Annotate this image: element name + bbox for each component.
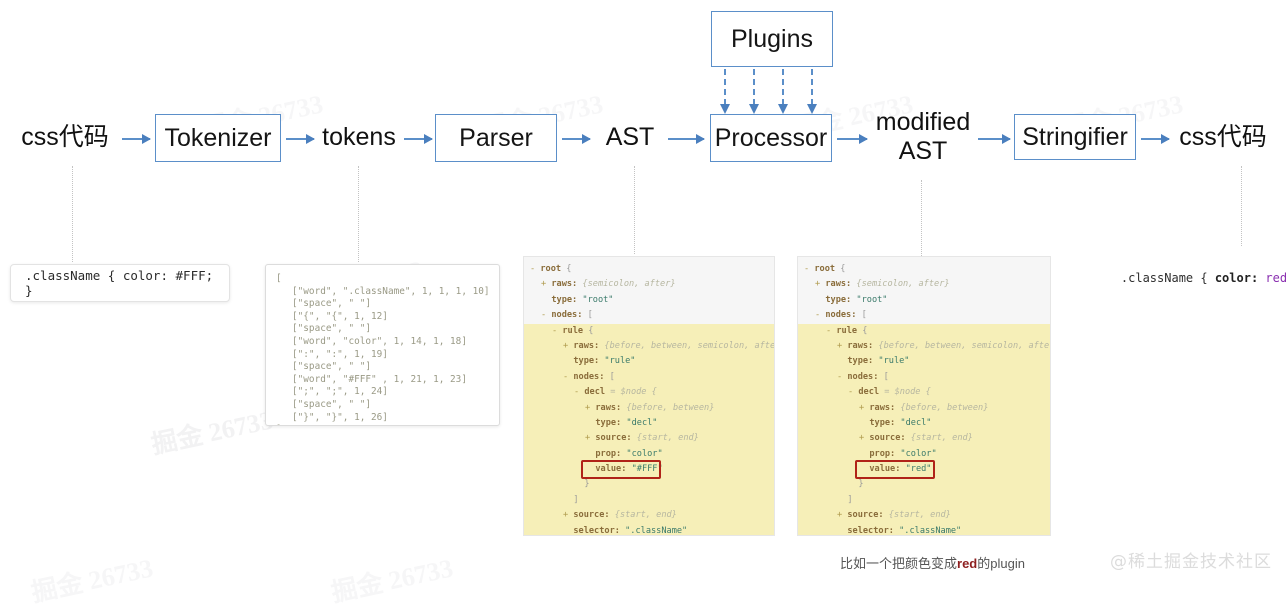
ast-key: raws:: [847, 341, 873, 351]
row-indent-spacer: [574, 479, 584, 489]
ast-value: {start, end}: [911, 433, 973, 443]
ast-key: nodes:: [551, 310, 582, 320]
ast-value: {start, end}: [889, 510, 951, 520]
ast-key: type:: [869, 418, 895, 428]
ast-row[interactable]: + source: {start, end}: [798, 431, 1050, 446]
row-indent-spacer: [837, 526, 847, 536]
tokens-card: [ ["word", ".className", 1, 1, 1, 10]["s…: [265, 264, 500, 426]
flow-node-processor[interactable]: Processor: [710, 114, 832, 162]
ast-value: [: [588, 310, 593, 320]
ast-key: type:: [847, 356, 873, 366]
arrow-css-to-tokenizer: [122, 138, 150, 140]
arrow-parser-to-ast: [562, 138, 590, 140]
flow-node-stringifier[interactable]: Stringifier: [1014, 114, 1136, 160]
ast-value: "root": [582, 295, 613, 305]
ast-value: {: [862, 326, 867, 336]
ast-value: {before, between}: [900, 403, 988, 413]
ast-key: source:: [595, 433, 631, 443]
ast-value: "color": [626, 449, 662, 459]
collapse-toggle-icon[interactable]: -: [530, 264, 540, 274]
ast-key: raws:: [825, 279, 851, 289]
ast-value: "color": [900, 449, 936, 459]
ast-row[interactable]: ]: [798, 493, 1050, 508]
ast-row[interactable]: }: [798, 477, 1050, 492]
ast-row[interactable]: type: "decl": [524, 416, 774, 431]
tokens-open-bracket: [: [276, 273, 489, 286]
token-line: [";", ";", 1, 24]: [276, 386, 489, 399]
token-line: ["word", "#FFF" , 1, 21, 1, 23]: [276, 374, 489, 387]
flow-node-label: AST: [606, 123, 655, 153]
plugin-arrow: [753, 69, 755, 105]
input-css-card: .className { color: #FFF; }: [10, 264, 230, 302]
token-line: ["space", " "]: [276, 399, 489, 412]
ast-row[interactable]: - nodes: [: [798, 308, 1050, 323]
collapse-toggle-icon[interactable]: -: [804, 264, 814, 274]
ast-key: selector:: [847, 526, 894, 536]
ast-row[interactable]: - decl = $node {: [524, 385, 774, 400]
ast-key: type:: [825, 295, 851, 305]
ast-panel-after[interactable]: - root {+ raws: {semicolon, after} type:…: [797, 256, 1051, 536]
ast-value: [: [610, 372, 615, 382]
row-indent-spacer: [837, 495, 847, 505]
row-indent-spacer: [541, 295, 551, 305]
ast-key: nodes:: [825, 310, 856, 320]
drop-connector-modified-ast: [921, 180, 922, 256]
ast-key: raws:: [869, 403, 895, 413]
ast-tree-after: - root {+ raws: {semicolon, after} type:…: [798, 262, 1050, 536]
ast-key: source:: [573, 510, 609, 520]
ast-value: [: [862, 310, 867, 320]
ast-key: prop:: [595, 449, 621, 459]
ast-key: source:: [847, 510, 883, 520]
flow-node-label: css代码: [1179, 123, 1267, 153]
ast-key: value:: [869, 464, 900, 474]
watermark-tile: 掘金 26733: [28, 548, 157, 609]
row-indent-spacer: [585, 464, 595, 474]
expand-toggle-icon[interactable]: +: [815, 279, 825, 289]
collapse-toggle-icon[interactable]: -: [574, 387, 584, 397]
ast-row[interactable]: type: "rule": [524, 354, 774, 369]
expand-toggle-icon[interactable]: +: [837, 341, 847, 351]
row-indent-spacer: [563, 526, 573, 536]
ast-value: "decl": [626, 418, 657, 428]
arrow-processor-to-modified-ast: [837, 138, 867, 140]
arrow-ast-to-processor: [668, 138, 704, 140]
ast-value: {start, end}: [615, 510, 677, 520]
collapse-toggle-icon[interactable]: -: [541, 310, 551, 320]
ast-value: {: [840, 264, 845, 274]
flow-node-label: Stringifier: [1022, 123, 1128, 152]
token-line: ["space", " "]: [276, 323, 489, 336]
caption-suffix: 的plugin: [977, 556, 1025, 571]
flow-node-plugins[interactable]: Plugins: [711, 11, 833, 67]
corner-watermark: @稀土掘金技术社区: [1110, 547, 1272, 572]
ast-value: [: [884, 372, 889, 382]
flow-node-css-input: css代码: [14, 118, 116, 158]
ast-row[interactable]: - root {: [798, 262, 1050, 277]
ast-row[interactable]: + raws: {before, between}: [798, 401, 1050, 416]
ast-row[interactable]: - decl = $node {: [798, 385, 1050, 400]
ast-value: }: [858, 479, 863, 489]
ast-key: raws:: [551, 279, 577, 289]
arrow-tokens-to-parser: [404, 138, 432, 140]
flow-node-ast: AST: [596, 118, 664, 158]
ast-key: root: [814, 264, 835, 274]
row-indent-spacer: [585, 449, 595, 459]
ast-row[interactable]: value: "red": [798, 462, 1050, 477]
token-line: ["word", "color", 1, 14, 1, 18]: [276, 336, 489, 349]
ast-value: {start, end}: [637, 433, 699, 443]
ast-value: = $node {: [610, 387, 657, 397]
flow-node-label: Tokenizer: [165, 124, 272, 153]
ast-row[interactable]: + raws: {semicolon, after}: [798, 277, 1050, 292]
flow-node-label: Processor: [715, 124, 828, 153]
ast-tree-before: - root {+ raws: {semicolon, after} type:…: [524, 262, 774, 536]
expand-toggle-icon[interactable]: +: [585, 403, 595, 413]
collapse-toggle-icon[interactable]: -: [552, 326, 562, 336]
arrow-tokenizer-to-tokens: [286, 138, 314, 140]
ast-row[interactable]: + source: {start, end}: [524, 508, 774, 523]
flow-node-label: css代码: [21, 123, 109, 153]
ast-value: {: [566, 264, 571, 274]
ast-value: ".className": [899, 526, 961, 536]
ast-key: type:: [573, 356, 599, 366]
ast-value: {semicolon, after}: [582, 279, 675, 289]
caption-highlight: red: [957, 556, 977, 571]
plugin-arrow: [782, 69, 784, 105]
watermark-tile: 掘金 26733: [148, 400, 277, 462]
flow-node-label: Plugins: [731, 25, 813, 54]
ast-value: ]: [847, 495, 852, 505]
row-indent-spacer: [585, 418, 595, 428]
expand-toggle-icon[interactable]: +: [563, 510, 573, 520]
token-line: ["space", " "]: [276, 361, 489, 374]
expand-toggle-icon[interactable]: +: [859, 433, 869, 443]
ast-row[interactable]: selector: ".className": [524, 524, 774, 536]
collapse-toggle-icon[interactable]: -: [563, 372, 573, 382]
row-indent-spacer: [859, 464, 869, 474]
plugin-arrow: [724, 69, 726, 105]
ast-row[interactable]: + raws: {before, between}: [524, 401, 774, 416]
ast-key: type:: [595, 418, 621, 428]
ast-value: "#FFF": [632, 464, 663, 474]
token-line: [":", ":", 1, 19]: [276, 349, 489, 362]
ast-row[interactable]: value: "#FFF": [524, 462, 774, 477]
collapse-toggle-icon[interactable]: -: [815, 310, 825, 320]
flow-node-tokenizer[interactable]: Tokenizer: [155, 114, 281, 162]
output-css-selector: .className {: [1121, 271, 1215, 285]
ast-row[interactable]: - rule {: [798, 324, 1050, 339]
collapse-toggle-icon[interactable]: -: [848, 387, 858, 397]
ast-row[interactable]: - rule {: [524, 324, 774, 339]
arrow-stringifier-to-css-output: [1141, 138, 1169, 140]
ast-value: ".className": [625, 526, 687, 536]
flow-node-parser[interactable]: Parser: [435, 114, 557, 162]
expand-toggle-icon[interactable]: +: [585, 433, 595, 443]
ast-key: type:: [551, 295, 577, 305]
ast-key: decl: [584, 387, 605, 397]
ast-value: "decl": [900, 418, 931, 428]
ast-key: raws:: [595, 403, 621, 413]
flow-node-label: Parser: [459, 124, 533, 153]
collapse-toggle-icon[interactable]: -: [826, 326, 836, 336]
expand-toggle-icon[interactable]: +: [563, 341, 573, 351]
expand-toggle-icon[interactable]: +: [541, 279, 551, 289]
ast-row[interactable]: type: "rule": [798, 354, 1050, 369]
token-line: ["space", " "]: [276, 298, 489, 311]
ast-key: decl: [858, 387, 879, 397]
ast-row[interactable]: prop: "color": [524, 447, 774, 462]
row-indent-spacer: [859, 418, 869, 428]
ast-value: }: [584, 479, 589, 489]
ast-row[interactable]: type: "root": [524, 293, 774, 308]
row-indent-spacer: [563, 495, 573, 505]
plugin-caption: 比如一个把颜色变成red的plugin: [840, 553, 1025, 572]
ast-row[interactable]: + raws: {before, between, semicolon, aft…: [798, 339, 1050, 354]
flow-node-modified-ast: modified AST: [872, 100, 974, 174]
ast-value: ]: [573, 495, 578, 505]
ast-row[interactable]: ]: [524, 493, 774, 508]
flow-node-css-output: css代码: [1172, 118, 1274, 158]
ast-value: = $node {: [884, 387, 931, 397]
drop-connector-css-input: [72, 166, 73, 262]
flow-node-label: modified AST: [876, 108, 971, 167]
row-indent-spacer: [815, 295, 825, 305]
caption-prefix: 比如一个把颜色变成: [840, 556, 957, 571]
ast-row[interactable]: - nodes: [: [524, 308, 774, 323]
ast-value: "rule": [878, 356, 909, 366]
tokens-close-bracket: ]: [276, 424, 489, 426]
ast-row[interactable]: + raws: {before, between, semicolon, aft…: [524, 339, 774, 354]
input-css-text: .className { color: #FFF; }: [25, 268, 215, 298]
ast-row[interactable]: }: [524, 477, 774, 492]
row-indent-spacer: [563, 356, 573, 366]
ast-panel-before[interactable]: - root {+ raws: {semicolon, after} type:…: [523, 256, 775, 536]
drop-connector-ast: [634, 166, 635, 254]
arrow-modified-ast-to-stringifier: [978, 138, 1010, 140]
row-indent-spacer: [837, 356, 847, 366]
ast-value: "rule": [604, 356, 635, 366]
ast-key: selector:: [573, 526, 620, 536]
ast-row[interactable]: + source: {start, end}: [798, 508, 1050, 523]
ast-key: root: [540, 264, 561, 274]
ast-value: {semicolon, after}: [856, 279, 949, 289]
ast-key: raws:: [573, 341, 599, 351]
plugin-arrow: [811, 69, 813, 105]
ast-row[interactable]: prop: "color": [798, 447, 1050, 462]
expand-toggle-icon[interactable]: +: [837, 510, 847, 520]
output-css-text: .className { color: red; }: [1092, 257, 1286, 299]
expand-toggle-icon[interactable]: +: [859, 403, 869, 413]
tokens-list: ["word", ".className", 1, 1, 1, 10]["spa…: [276, 286, 489, 425]
ast-value: {before, between}: [626, 403, 714, 413]
ast-row[interactable]: - nodes: [: [524, 370, 774, 385]
drop-connector-tokens: [358, 166, 359, 262]
output-css-value: red;: [1258, 271, 1286, 285]
ast-key: prop:: [869, 449, 895, 459]
token-line: ["{", "{", 1, 12]: [276, 311, 489, 324]
flow-node-tokens: tokens: [316, 118, 402, 158]
ast-row[interactable]: + source: {start, end}: [524, 431, 774, 446]
drop-connector-css-output: [1241, 166, 1242, 246]
collapse-toggle-icon[interactable]: -: [837, 372, 847, 382]
diagram-canvas: 掘金 26733 掘金 26733 掘金 26733 掘金 26733 掘金 2…: [0, 0, 1286, 578]
ast-key: source:: [869, 433, 905, 443]
ast-row[interactable]: type: "root": [798, 293, 1050, 308]
ast-key: nodes:: [847, 372, 878, 382]
watermark-tile: 掘金 26733: [328, 548, 457, 609]
ast-row[interactable]: type: "decl": [798, 416, 1050, 431]
token-line: ["word", ".className", 1, 1, 1, 10]: [276, 286, 489, 299]
flow-node-label: tokens: [322, 123, 396, 153]
ast-value: {: [588, 326, 593, 336]
ast-row[interactable]: selector: ".className": [798, 524, 1050, 536]
row-indent-spacer: [848, 479, 858, 489]
ast-key: nodes:: [573, 372, 604, 382]
row-indent-spacer: [859, 449, 869, 459]
ast-value: {before, between, semicolon, after}: [604, 341, 775, 351]
output-css-property: color:: [1215, 271, 1258, 285]
token-line: ["}", "}", 1, 26]: [276, 412, 489, 425]
ast-row[interactable]: - nodes: [: [798, 370, 1050, 385]
ast-key: value:: [595, 464, 626, 474]
ast-row[interactable]: - root {: [524, 262, 774, 277]
ast-row[interactable]: + raws: {semicolon, after}: [524, 277, 774, 292]
ast-value: "red": [906, 464, 932, 474]
ast-key: rule: [836, 326, 857, 336]
ast-value: {before, between, semicolon, after}: [878, 341, 1051, 351]
ast-key: rule: [562, 326, 583, 336]
ast-value: "root": [856, 295, 887, 305]
